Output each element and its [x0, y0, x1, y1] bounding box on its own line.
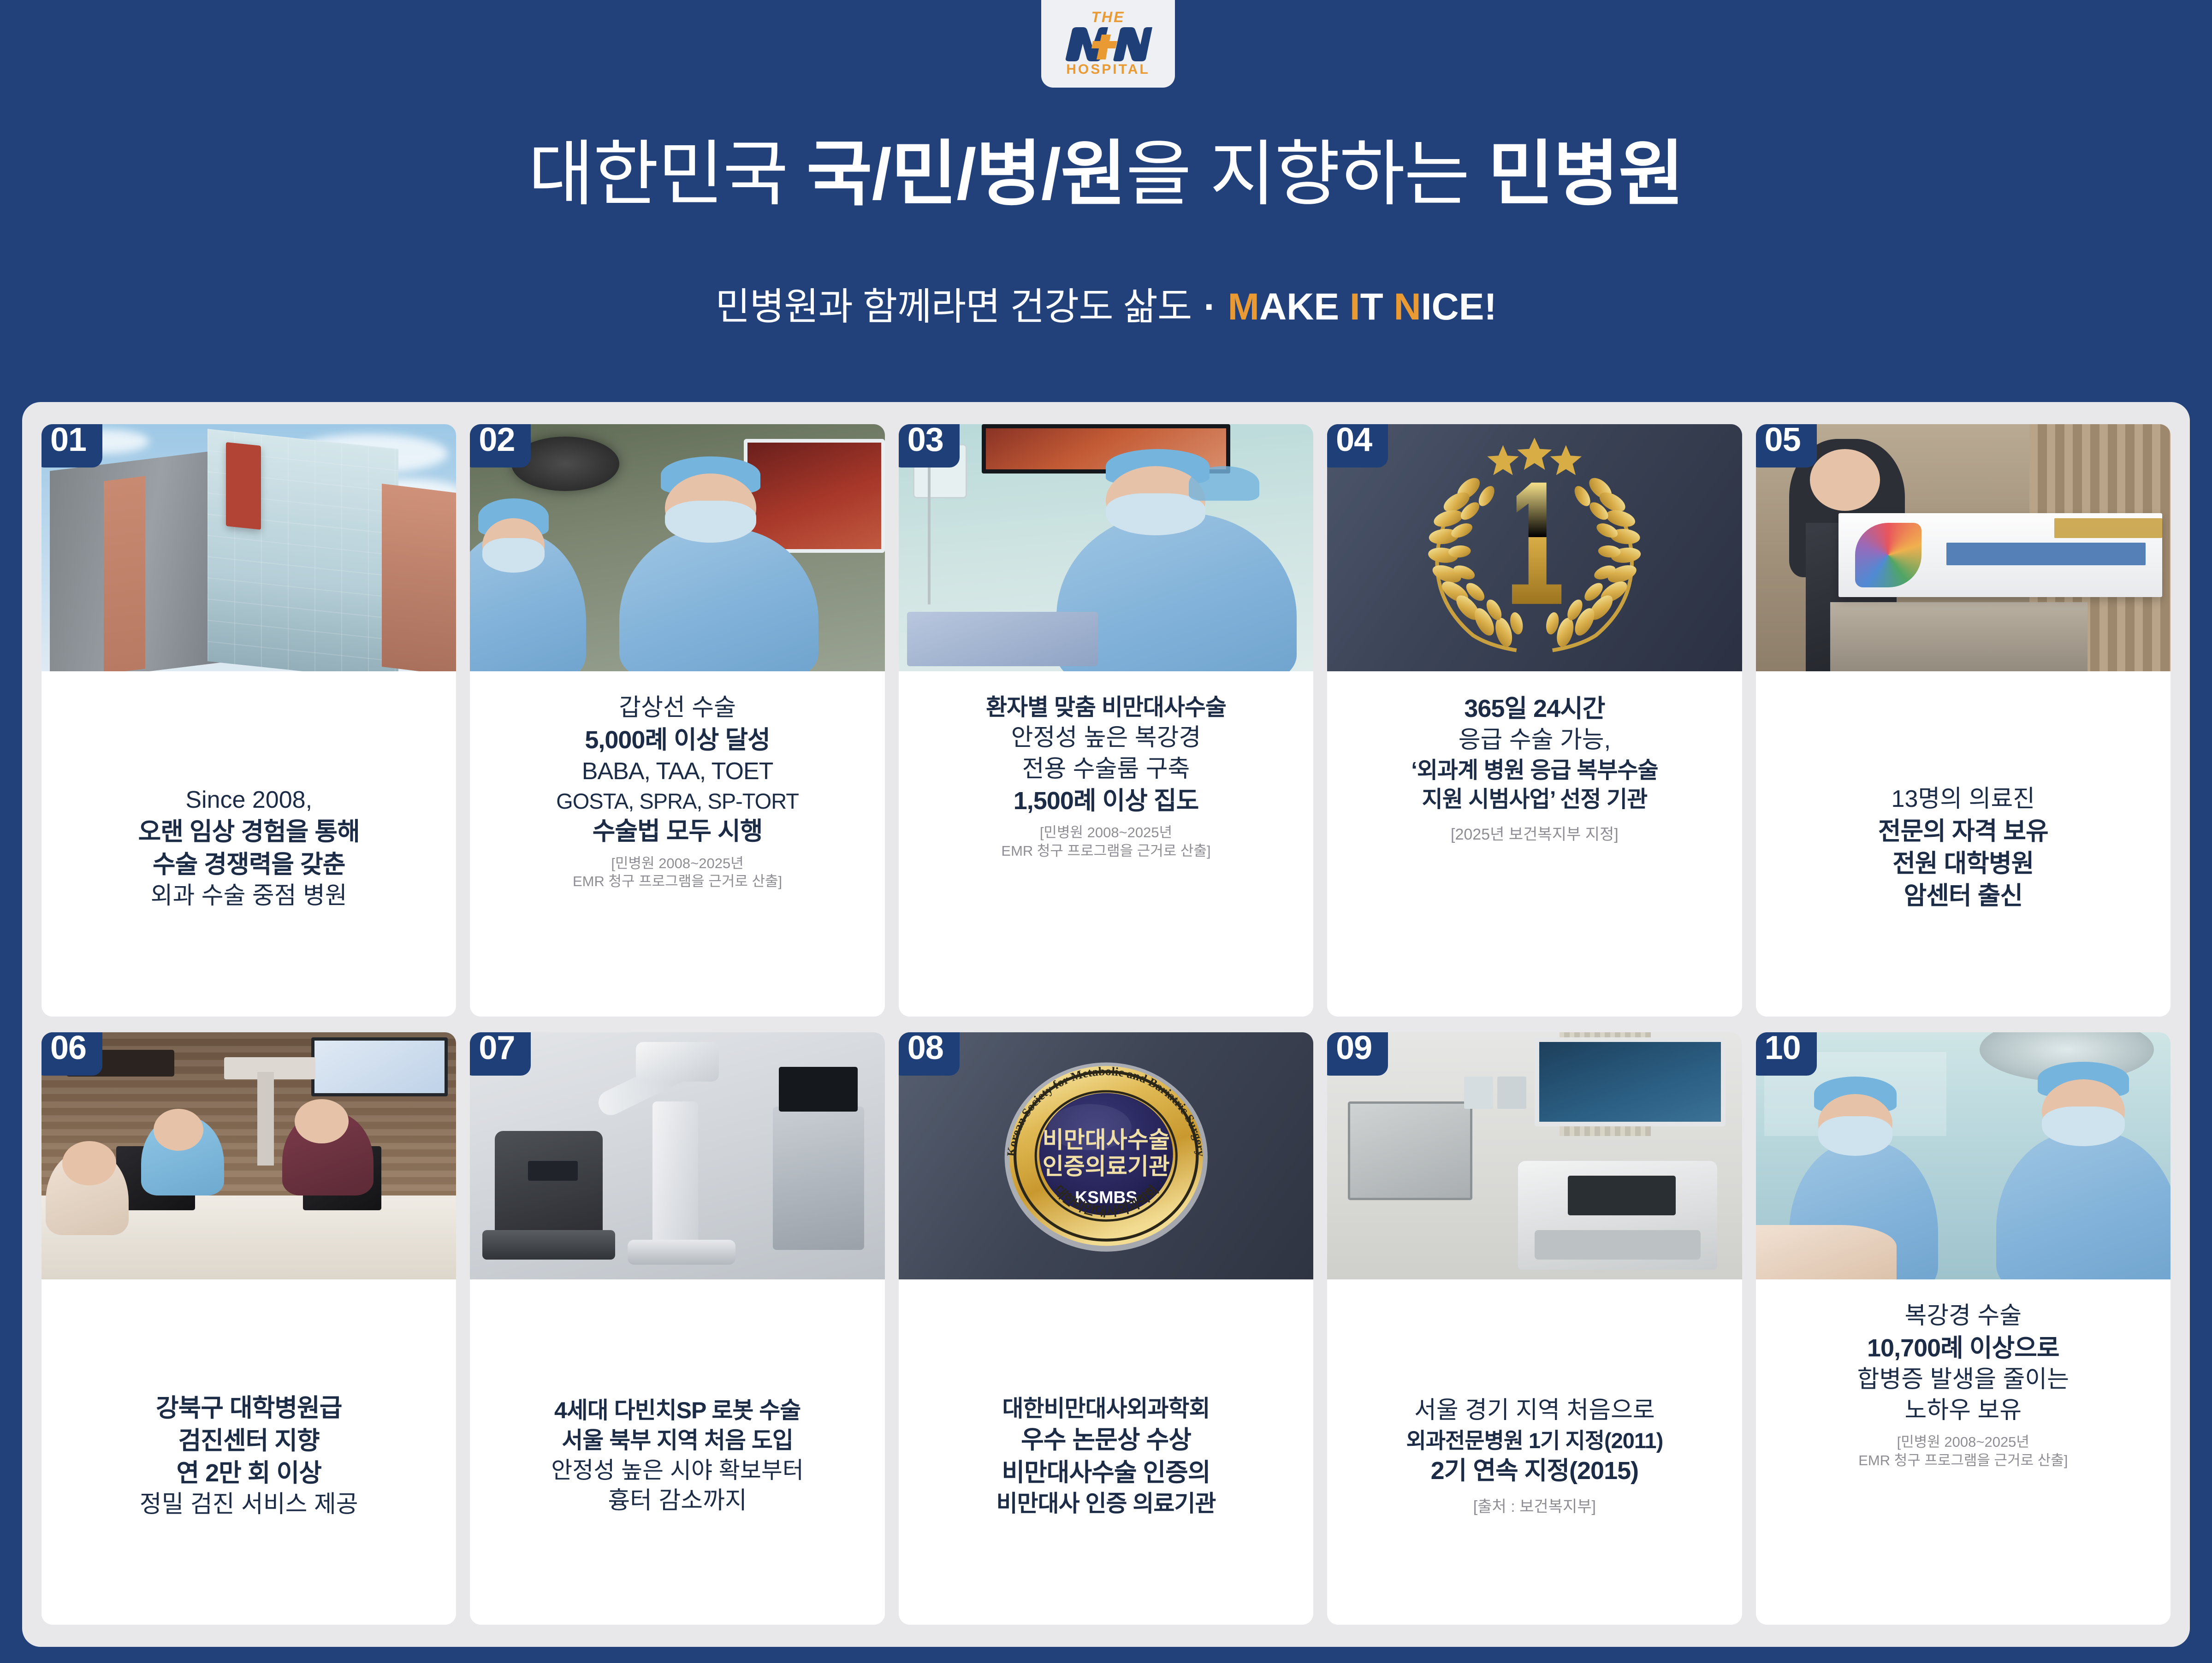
card-07-body: 4세대 다빈치SP 로봇 수술 서울 북부 지역 처음 도입 안정성 높은 시야…: [470, 1279, 884, 1625]
davinci-sp-robot-photo: [470, 1032, 884, 1279]
card-01-number: 01: [42, 424, 102, 468]
card-02-line-4: GOSTA, SPRA, SP-TORT: [556, 787, 799, 815]
card-03-line-3: 전용 수술룸 구축: [1022, 754, 1190, 785]
card-07-line-3: 안정성 높은 시야 확보부터: [551, 1456, 804, 1485]
card-06-number: 06: [42, 1032, 102, 1076]
card-02-line-5: 수술법 모두 시행: [593, 815, 763, 847]
card-07[interactable]: 07 4세대 다빈치SP 로봇 수술 서울 북부 지역 처음 도입 안정성 높은…: [470, 1032, 884, 1625]
card-02-line-3: BABA, TAA, TOET: [582, 756, 773, 787]
card-01-image: 01: [42, 424, 456, 671]
card-04-line-3: ‘외과계 병원 응급 복부수술: [1411, 756, 1658, 786]
card-04-line-4: 지원 시범사업’ 선정 기관: [1422, 785, 1648, 815]
ksmbs-certification-seal: Korean Society for Metabolic and Bariatr…: [899, 1032, 1313, 1279]
headline-emphasis: 국/민/병/원: [807, 134, 1126, 214]
cards-grid: 01 Since 2008, 오랜 임상 경험을 통해 수술 경쟁력을 갖춘 외…: [42, 424, 2170, 1625]
card-10-note: [민병원 2008~2025년 EMR 청구 프로그램을 근거로 산출]: [1858, 1433, 2068, 1469]
card-04-note: [2025년 보건복지부 지정]: [1451, 825, 1619, 845]
subheadline-t: T: [1360, 286, 1394, 328]
card-10-line-3: 합병증 발생을 줄이는: [1857, 1364, 2069, 1396]
card-04-body: 365일 24시간 응급 수술 가능, ‘외과계 병원 응급 복부수술 지원 시…: [1327, 671, 1742, 1017]
subheadline-i: I: [1350, 286, 1360, 328]
logo-mn-svg: [1062, 25, 1154, 61]
card-10-body: 복강경 수술 10,700례 이상으로 합병증 발생을 줄이는 노하우 보유 […: [1756, 1279, 2170, 1625]
card-06-line-3: 연 2만 회 이상: [176, 1457, 321, 1489]
card-02-image: 02: [470, 424, 884, 671]
card-10-image: 10: [1756, 1032, 2170, 1279]
page-headline: 대한민국 국/민/병/원을 지향하는 민병원: [0, 138, 2212, 210]
card-06-body: 강북구 대학병원급 검진센터 지향 연 2만 회 이상 정밀 검진 서비스 제공: [42, 1279, 456, 1625]
page-subheadline: 민병원과 함께라면 건강도 삶도·MAKE IT NICE!: [0, 288, 2212, 326]
card-09-body: 서울 경기 지역 처음으로 외과전문병원 1기 지정(2011) 2기 연속 지…: [1327, 1279, 1742, 1625]
headline-part1: 대한민국: [528, 134, 806, 214]
card-03-line-1: 환자별 맞춤 비만대사수술: [986, 692, 1226, 722]
card-05-line-3: 전원 대학병원: [1892, 847, 2034, 880]
card-08-line-1: 대한비만대사외과학회: [1002, 1394, 1210, 1424]
subheadline-separator: ·: [1192, 286, 1228, 328]
card-03-number: 03: [899, 424, 960, 468]
bariatric-surgery-photo: [899, 424, 1313, 671]
infographic-page: THE HOSPITAL 대한민국 국/민/병/원을 지향하는 민병원 민병원과…: [0, 0, 2212, 1663]
health-screening-center-photo: [42, 1032, 456, 1279]
logo-hospital-text: HOSPITAL: [1066, 63, 1150, 77]
card-09-image: 09: [1327, 1032, 1742, 1279]
card-06-line-2: 검진센터 지향: [178, 1425, 320, 1457]
laparoscopic-surgery-photo: [1756, 1032, 2170, 1279]
card-04[interactable]: 04 365일 24시간 응급 수술 가능, ‘외과계 병원 응급 복부수술 지…: [1327, 424, 1742, 1017]
certification-seal-icon: Korean Society for Metabolic and Bariatr…: [932, 1052, 1280, 1260]
subheadline-n: N: [1394, 286, 1421, 328]
card-07-line-2: 서울 북부 지역 처음 도입: [562, 1426, 793, 1456]
card-08-line-2: 우수 논문상 수상: [1021, 1424, 1191, 1456]
seal-center-line2: 인증의료기관: [1042, 1154, 1169, 1179]
card-03-line-2: 안정성 높은 복강경: [1011, 722, 1201, 754]
subheadline-ake: AKE: [1259, 286, 1350, 328]
card-08-line-4: 비만대사 인증 의료기관: [996, 1489, 1216, 1519]
card-02-line-2: 5,000례 이상 달성: [585, 724, 770, 756]
card-02-line-1: 갑상선 수술: [619, 692, 736, 724]
thyroid-surgery-photo: [470, 424, 884, 671]
card-05-line-4: 암센터 출신: [1904, 880, 2022, 912]
headline-brand: 민병원: [1488, 134, 1684, 214]
card-05-line-1: 13명의 의료진: [1892, 784, 2035, 815]
card-01-line-1: Since 2008,: [185, 785, 312, 816]
logo-the-text: THE: [1091, 10, 1125, 24]
card-01-body: Since 2008, 오랜 임상 경험을 통해 수술 경쟁력을 갖춘 외과 수…: [42, 671, 456, 1017]
card-03[interactable]: 03 환자별 맞춤 비만대사수술 안정성 높은 복강경 전용 수술룸 구축 1,…: [899, 424, 1313, 1017]
card-07-line-4: 흉터 감소까지: [608, 1485, 747, 1517]
card-09[interactable]: 09 서울 경기 지역 처음으로 외과전문병원 1기 지정(2011) 2기 연…: [1327, 1032, 1742, 1625]
ultrasound-machine-photo: [1327, 1032, 1742, 1279]
card-04-number: 04: [1327, 424, 1388, 468]
card-05-body: 13명의 의료진 전문의 자격 보유 전원 대학병원 암센터 출신: [1756, 671, 2170, 1017]
card-01-line-4: 외과 수술 중점 병원: [151, 881, 347, 912]
card-06-line-1: 강북구 대학병원급: [156, 1392, 342, 1424]
card-02-body: 갑상선 수술 5,000례 이상 달성 BABA, TAA, TOET GOST…: [470, 671, 884, 1017]
card-01-line-2: 오랜 임상 경험을 통해: [138, 816, 360, 848]
card-08[interactable]: Korean Society for Metabolic and Bariatr…: [899, 1032, 1313, 1625]
headline-part2: 을 지향하는: [1126, 134, 1488, 214]
card-10-line-2: 10,700례 이상으로: [1867, 1332, 2059, 1364]
card-02-number: 02: [470, 424, 531, 468]
card-09-note: [출처 : 보건복지부]: [1473, 1497, 1596, 1517]
card-10[interactable]: 10 복강경 수술 10,700례 이상으로 합병증 발생을 줄이는 노하우 보…: [1756, 1032, 2170, 1625]
card-04-line-2: 응급 수술 가능,: [1459, 725, 1611, 756]
card-10-line-4: 노하우 보유: [1904, 1395, 2022, 1426]
card-04-line-1: 365일 24시간: [1464, 692, 1605, 725]
card-09-line-1: 서울 경기 지역 처음으로: [1414, 1395, 1655, 1426]
card-05-line-2: 전문의 자격 보유: [1878, 815, 2048, 847]
card-05[interactable]: 05 13명의 의료진 전문의 자격 보유 전원 대학병원 암센터 출신: [1756, 424, 2170, 1017]
card-10-line-1: 복강경 수술: [1904, 1301, 2022, 1332]
seal-center-line1: 비만대사수술: [1042, 1127, 1169, 1153]
card-05-number: 05: [1756, 424, 1817, 468]
card-06-image: 06: [42, 1032, 456, 1279]
laurel-wreath-icon: [1327, 424, 1742, 671]
card-02[interactable]: 02 갑상선 수술 5,000례 이상 달성 BABA, TAA, TOET G…: [470, 424, 884, 1017]
card-09-number: 09: [1327, 1032, 1388, 1076]
card-08-number: 08: [899, 1032, 960, 1076]
card-03-image: 03: [899, 424, 1313, 671]
card-03-body: 환자별 맞춤 비만대사수술 안정성 높은 복강경 전용 수술룸 구축 1,500…: [899, 671, 1313, 1017]
card-08-image: Korean Society for Metabolic and Bariatr…: [899, 1032, 1313, 1279]
card-06[interactable]: 06 강북구 대학병원급 검진센터 지향 연 2만 회 이상 정밀 검진 서비스…: [42, 1032, 456, 1625]
card-07-number: 07: [470, 1032, 531, 1076]
card-08-body: 대한비만대사외과학회 우수 논문상 수상 비만대사수술 인증의 비만대사 인증 …: [899, 1279, 1313, 1625]
hospital-logo: THE HOSPITAL: [1041, 0, 1175, 88]
cards-panel: 01 Since 2008, 오랜 임상 경험을 통해 수술 경쟁력을 갖춘 외…: [22, 402, 2190, 1647]
subheadline-m: M: [1228, 286, 1259, 328]
card-09-line-2: 외과전문병원 1기 지정(2011): [1406, 1426, 1663, 1455]
hospital-building-photo: [42, 424, 456, 671]
card-07-image: 07: [470, 1032, 884, 1279]
card-01-line-3: 수술 경쟁력을 갖춘: [153, 848, 345, 881]
gold-laurel-award-graphic: [1327, 424, 1742, 671]
card-10-number: 10: [1756, 1032, 1817, 1076]
conference-presentation-photo: [1756, 424, 2170, 671]
card-06-line-4: 정밀 검진 서비스 제공: [140, 1489, 358, 1521]
card-07-line-1: 4세대 다빈치SP 로봇 수술: [554, 1396, 801, 1426]
subheadline-ice: ICE!: [1421, 286, 1497, 328]
card-02-note: [민병원 2008~2025년 EMR 청구 프로그램을 근거로 산출]: [573, 854, 782, 891]
card-05-image: 05: [1756, 424, 2170, 671]
card-01[interactable]: 01 Since 2008, 오랜 임상 경험을 통해 수술 경쟁력을 갖춘 외…: [42, 424, 456, 1017]
card-04-image: 04: [1327, 424, 1742, 671]
subheadline-korean: 민병원과 함께라면 건강도 삶도: [715, 286, 1192, 328]
card-03-line-4: 1,500례 이상 집도: [1014, 785, 1199, 817]
card-08-line-3: 비만대사수술 인증의: [1002, 1456, 1210, 1489]
logo-mark-mn: [1062, 25, 1154, 61]
card-09-line-3: 2기 연속 지정(2015): [1431, 1455, 1639, 1487]
card-03-note: [민병원 2008~2025년 EMR 청구 프로그램을 근거로 산출]: [1001, 823, 1210, 860]
